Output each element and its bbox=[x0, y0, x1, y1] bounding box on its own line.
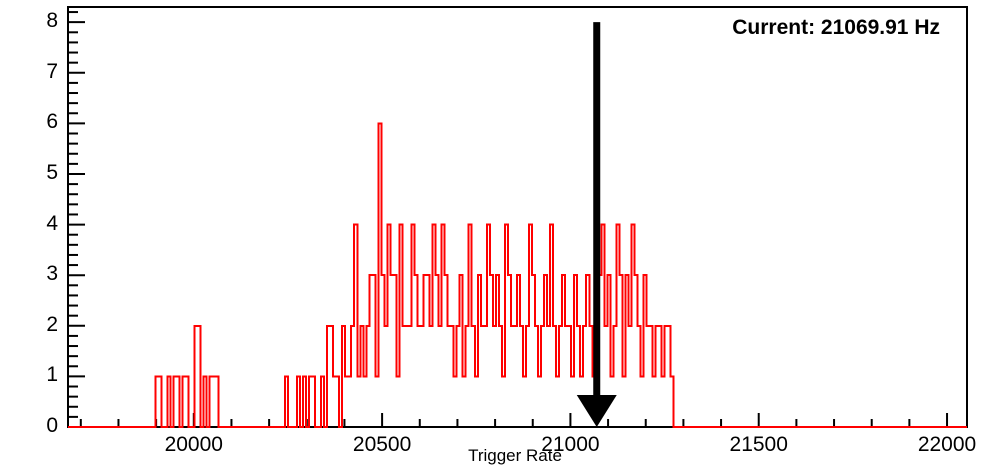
x-axis-title: Trigger Rate bbox=[440, 446, 590, 466]
y-tick-label-0: 0 bbox=[18, 414, 58, 438]
y-tick-label-5: 5 bbox=[18, 161, 58, 185]
x-tick-label-22000: 22000 bbox=[892, 433, 996, 457]
x-tick-label-20500: 20500 bbox=[327, 433, 437, 457]
y-tick-label-1: 1 bbox=[18, 363, 58, 387]
y-tick-label-8: 8 bbox=[18, 9, 58, 33]
x-tick-label-20000: 20000 bbox=[139, 433, 249, 457]
plot-frame bbox=[68, 7, 967, 427]
y-tick-label-6: 6 bbox=[18, 110, 58, 134]
y-tick-label-4: 4 bbox=[18, 212, 58, 236]
chart-root: 0123456782000020500210002150022000Curren… bbox=[0, 0, 996, 472]
x-tick-label-21500: 21500 bbox=[704, 433, 814, 457]
y-tick-label-3: 3 bbox=[18, 262, 58, 286]
current-rate-arrow-head bbox=[577, 395, 617, 427]
y-tick-label-2: 2 bbox=[18, 313, 58, 337]
histogram-outline bbox=[68, 123, 967, 427]
y-tick-label-7: 7 bbox=[18, 60, 58, 84]
current-rate-label: Current: 21069.91 Hz bbox=[600, 16, 940, 40]
trigger-rate-histogram bbox=[0, 0, 996, 472]
